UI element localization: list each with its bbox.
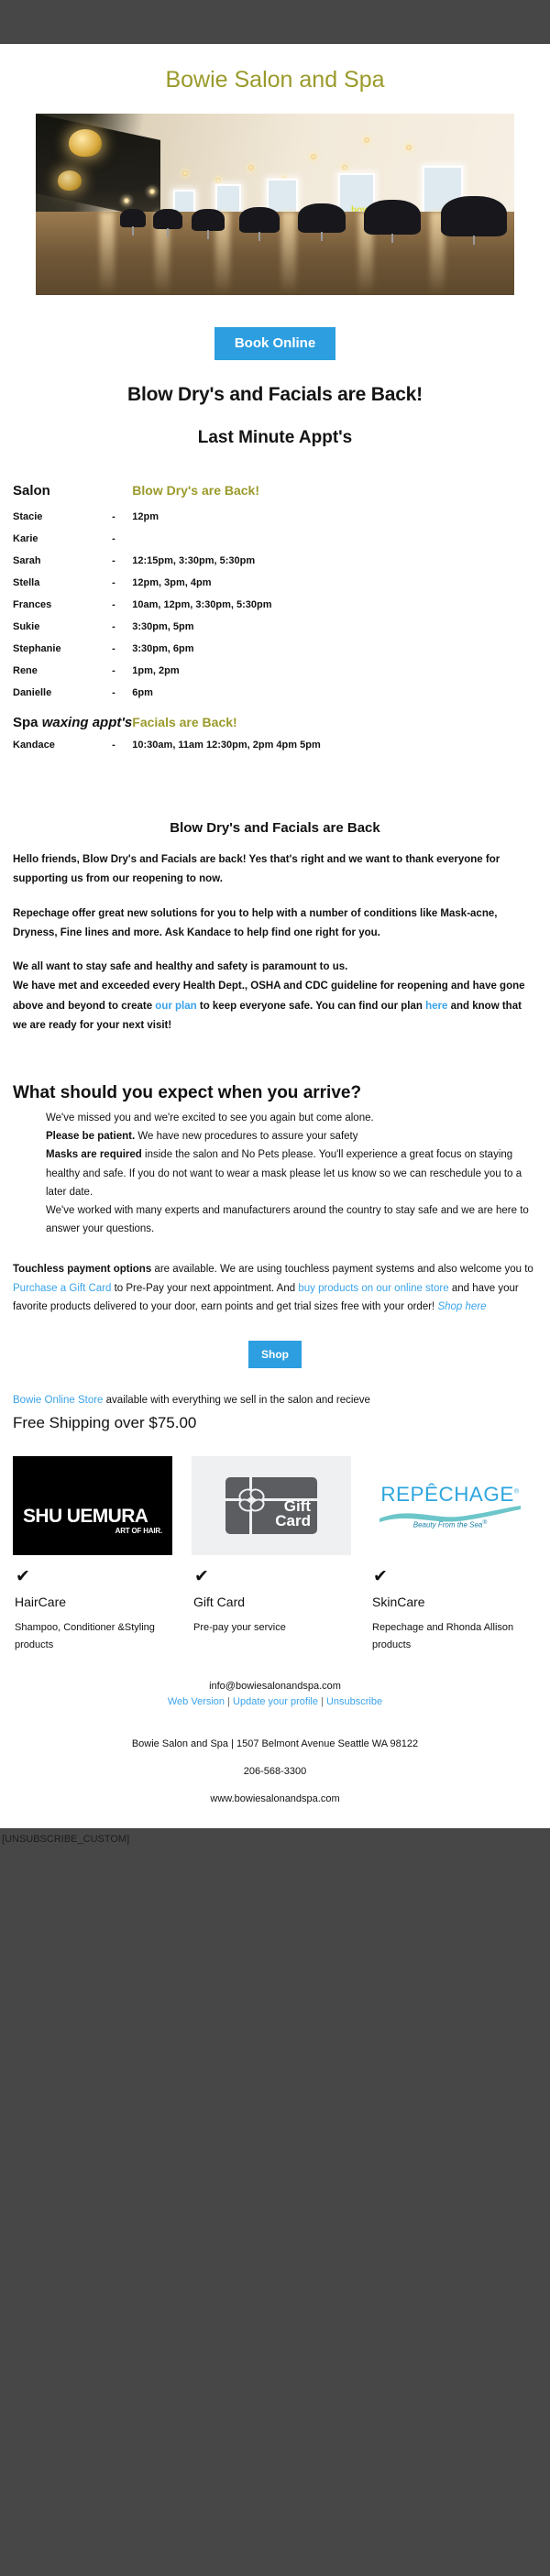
article-paragraph-1: Hello friends, Blow Dry's and Facials ar… [13, 850, 537, 890]
stylist-times [132, 533, 537, 555]
card-description: Pre-pay your service [193, 1619, 351, 1637]
store-line: Bowie Online Store available with everyt… [13, 1392, 537, 1409]
table-row: Rene - 1pm, 2pm [13, 665, 537, 687]
row-dash: - [112, 687, 132, 709]
bow-icon [238, 1487, 263, 1512]
ceiling-light-icon [406, 145, 412, 150]
email-footer: info@bowiesalonandspa.com Web Version | … [0, 1653, 550, 1828]
ceiling-light-icon [248, 165, 254, 170]
card-title: SkinCare [372, 1595, 530, 1609]
registered-mark: ® [482, 1519, 487, 1526]
stylist-times: 12pm [132, 511, 537, 533]
salon-chair [298, 203, 346, 233]
esthetician-name: Kandace [13, 740, 112, 762]
stylist-times: 6pm [132, 687, 537, 709]
repechage-tagline-text: Beauty From the Sea [413, 1520, 483, 1529]
page-title: Bowie Salon and Spa [0, 44, 550, 114]
touchless-paragraph: Touchless payment options are available.… [13, 1260, 537, 1317]
floor-reflection [281, 212, 296, 295]
expect-heading: What should you expect when you arrive? [13, 1083, 537, 1103]
shu-logo-sub: ART OF HAIR. [23, 1527, 162, 1535]
touchless-text-2: to Pre-Pay your next appointment. And [111, 1283, 298, 1294]
schedule-salon-note: Blow Dry's are Back! [132, 483, 537, 511]
table-row: Kandace - 10:30am, 11am 12:30pm, 2pm 4pm… [13, 740, 537, 762]
article-paragraph-2: Repechage offer great new solutions for … [13, 904, 537, 944]
touchless-text-1: are available. We are using touchless pa… [151, 1264, 533, 1275]
row-dash: - [112, 511, 132, 533]
table-row: Sukie - 3:30pm, 5pm [13, 621, 537, 643]
web-version-link[interactable]: Web Version [168, 1696, 225, 1707]
touchless-bold: Touchless payment options [13, 1264, 151, 1275]
stylist-times: 1pm, 2pm [132, 665, 537, 687]
gift-text-line2: Card [275, 1512, 311, 1529]
email-body: Bowie Salon and Spa [0, 44, 550, 1828]
check-icon: ✔ [192, 1555, 351, 1585]
spa-header-row: Spa waxing appt's Facials are Back! [13, 709, 537, 740]
table-row: Stacie - 12pm [13, 511, 537, 533]
ceiling-light-icon [215, 178, 221, 183]
book-online-row: Book Online [0, 295, 550, 360]
product-cards: SHU UEMURA ART OF HAIR. ✔ HairCare Shamp… [0, 1432, 550, 1653]
stylist-times: 12pm, 3pm, 4pm [132, 577, 537, 599]
ceiling-light-icon [124, 198, 129, 203]
stylist-times: 10am, 12pm, 3:30pm, 5:30pm [132, 599, 537, 621]
book-online-button[interactable]: Book Online [214, 327, 335, 360]
stylist-name: Stephanie [13, 643, 112, 665]
appointment-schedule: Salon Blow Dry's are Back! Stacie - 12pm… [0, 448, 550, 762]
shop-button-row: Shop [0, 1317, 550, 1368]
article-section: Blow Dry's and Facials are Back Hello fr… [0, 820, 550, 1317]
store-text: available with everything we sell in the… [103, 1395, 370, 1406]
stylist-name: Stella [13, 577, 112, 599]
row-dash: - [112, 665, 132, 687]
salon-chair [120, 209, 146, 227]
ceiling-light-icon [149, 189, 155, 194]
business-address: Bowie Salon and Spa | 1507 Belmont Avenu… [13, 1738, 537, 1749]
ceiling-light-icon [182, 170, 188, 176]
row-dash: - [112, 621, 132, 643]
row-dash: - [112, 740, 132, 762]
expect-body: We've missed you and we're excited to se… [13, 1109, 537, 1238]
expect-line-1: We've missed you and we're excited to se… [46, 1113, 374, 1124]
shop-here-link[interactable]: Shop here [437, 1301, 486, 1312]
salon-chair [239, 207, 280, 233]
headline-secondary: Last Minute Appt's [0, 428, 550, 448]
card-gift-card[interactable]: GiftCard ✔ Gift Card Pre-pay your servic… [192, 1456, 351, 1653]
card-title: Gift Card [193, 1595, 351, 1609]
stylist-name: Rene [13, 665, 112, 687]
online-store-link[interactable]: buy products on our online store [298, 1283, 448, 1294]
hero-image-wrap: bowie bowie bowie [0, 114, 550, 295]
esthetician-times: 10:30am, 11am 12:30pm, 2pm 4pm 5pm [132, 740, 537, 762]
chandelier-icon [58, 170, 82, 191]
table-row: Danielle - 6pm [13, 687, 537, 709]
expect-paragraph: We've missed you and we're excited to se… [46, 1109, 537, 1238]
row-dash: - [112, 599, 132, 621]
expect-line-2: We have new procedures to assure your sa… [135, 1131, 357, 1142]
email-page: Bowie Salon and Spa [0, 0, 550, 1892]
contact-email: info@bowiesalonandspa.com [13, 1681, 537, 1692]
top-spacer-bar [0, 0, 550, 44]
expect-line-4: We've worked with many experts and manuf… [46, 1205, 529, 1234]
headline-primary: Blow Dry's and Facials are Back! [0, 384, 550, 406]
card-description: Repechage and Rhonda Allison products [372, 1619, 530, 1653]
our-plan-link[interactable]: our plan [155, 1001, 196, 1012]
safety-line-a: We all want to stay safe and healthy and… [13, 961, 347, 972]
free-shipping-text: Free Shipping over $75.00 [13, 1414, 537, 1432]
here-link[interactable]: here [425, 1001, 447, 1012]
schedule-table: Salon Blow Dry's are Back! Stacie - 12pm… [13, 483, 537, 762]
stylist-times: 12:15pm, 3:30pm, 5:30pm [132, 555, 537, 577]
table-row: Stephanie - 3:30pm, 6pm [13, 643, 537, 665]
footer-links: Web Version | Update your profile | Unsu… [13, 1696, 537, 1707]
business-website: www.bowiesalonandspa.com [13, 1793, 537, 1828]
table-row: Sarah - 12:15pm, 3:30pm, 5:30pm [13, 555, 537, 577]
ceiling-light-icon [311, 154, 316, 159]
store-section: Bowie Online Store available with everyt… [0, 1392, 550, 1431]
salon-chair [441, 196, 507, 236]
schedule-salon-label: Salon [13, 483, 112, 511]
gift-card-image-icon[interactable]: GiftCard [192, 1456, 351, 1555]
table-row: Stella - 12pm, 3pm, 4pm [13, 577, 537, 599]
stylist-times: 3:30pm, 5pm [132, 621, 537, 643]
shu-logo-main: SHU UEMURA [23, 1507, 162, 1526]
chandelier-icon [69, 129, 102, 157]
card-skincare[interactable]: REPÊCHAGE® Beauty From the Sea® ✔ SkinCa… [370, 1456, 530, 1653]
stylist-name: Danielle [13, 687, 112, 709]
gift-card-graphic: GiftCard [225, 1477, 317, 1534]
card-description: Shampoo, Conditioner &Styling products [15, 1619, 172, 1653]
expect-bold-1: Please be patient. [46, 1131, 135, 1142]
stylist-times: 3:30pm, 6pm [132, 643, 537, 665]
bowie-online-store-link[interactable]: Bowie Online Store [13, 1395, 103, 1406]
shop-button[interactable]: Shop [248, 1341, 302, 1368]
repechage-wordmark: REPÊCHAGE® Beauty From the Sea® [377, 1483, 523, 1529]
update-profile-link[interactable]: Update your profile [233, 1696, 318, 1707]
row-dash: - [112, 577, 132, 599]
purchase-gift-card-link[interactable]: Purchase a Gift Card [13, 1283, 111, 1294]
row-dash: - [112, 555, 132, 577]
floor-reflection [100, 212, 115, 295]
shu-uemura-wordmark: SHU UEMURA ART OF HAIR. [23, 1507, 162, 1535]
business-phone: 206-568-3300 [13, 1766, 537, 1777]
article-heading: Blow Dry's and Facials are Back [13, 820, 537, 836]
gift-card-text: GiftCard [275, 1499, 311, 1529]
stylist-name: Sukie [13, 621, 112, 643]
table-row: Frances - 10am, 12pm, 3:30pm, 5:30pm [13, 599, 537, 621]
card-haircare[interactable]: SHU UEMURA ART OF HAIR. ✔ HairCare Shamp… [13, 1456, 172, 1653]
repechage-logo-icon[interactable]: REPÊCHAGE® Beauty From the Sea® [370, 1456, 530, 1555]
unsubscribe-link[interactable]: Unsubscribe [326, 1696, 382, 1707]
spa-note: Facials are Back! [132, 709, 537, 740]
repechage-name-text: REPÊCHAGE [380, 1483, 514, 1506]
stylist-name: Stacie [13, 511, 112, 533]
link-separator: | [227, 1696, 230, 1707]
stylist-name: Sarah [13, 555, 112, 577]
row-dash: - [112, 533, 132, 555]
salon-chair [192, 209, 225, 231]
schedule-header-dash [112, 483, 132, 511]
spa-label-italic: waxing appt's [42, 715, 133, 730]
shu-uemura-logo-icon[interactable]: SHU UEMURA ART OF HAIR. [13, 1456, 172, 1555]
check-icon: ✔ [370, 1555, 530, 1585]
stylist-name: Frances [13, 599, 112, 621]
row-dash: - [112, 643, 132, 665]
salon-interior-photo: bowie bowie bowie [36, 114, 514, 295]
repechage-name: REPÊCHAGE® [375, 1483, 524, 1507]
card-title: HairCare [15, 1595, 172, 1609]
unsubscribe-token: [UNSUBSCRIBE_CUSTOM] [0, 1828, 550, 1892]
check-icon: ✔ [13, 1555, 172, 1585]
link-separator: | [321, 1696, 324, 1707]
safety-line-c: to keep everyone safe. You can find our … [197, 1001, 425, 1012]
schedule-header-row: Salon Blow Dry's are Back! [13, 483, 537, 511]
article-paragraph-3: We all want to stay safe and healthy and… [13, 958, 537, 1036]
spa-label-plain: Spa [13, 715, 42, 730]
expect-bold-2: Masks are required [46, 1149, 142, 1160]
ceiling-light-icon [364, 137, 369, 143]
salon-chair [153, 209, 182, 229]
spa-label: Spa waxing appt's [13, 709, 132, 740]
stylist-name: Karie [13, 533, 112, 555]
table-row: Karie - [13, 533, 537, 555]
salon-chair [364, 200, 421, 235]
registered-mark: ® [514, 1488, 520, 1495]
ceiling-light-icon [342, 165, 347, 170]
